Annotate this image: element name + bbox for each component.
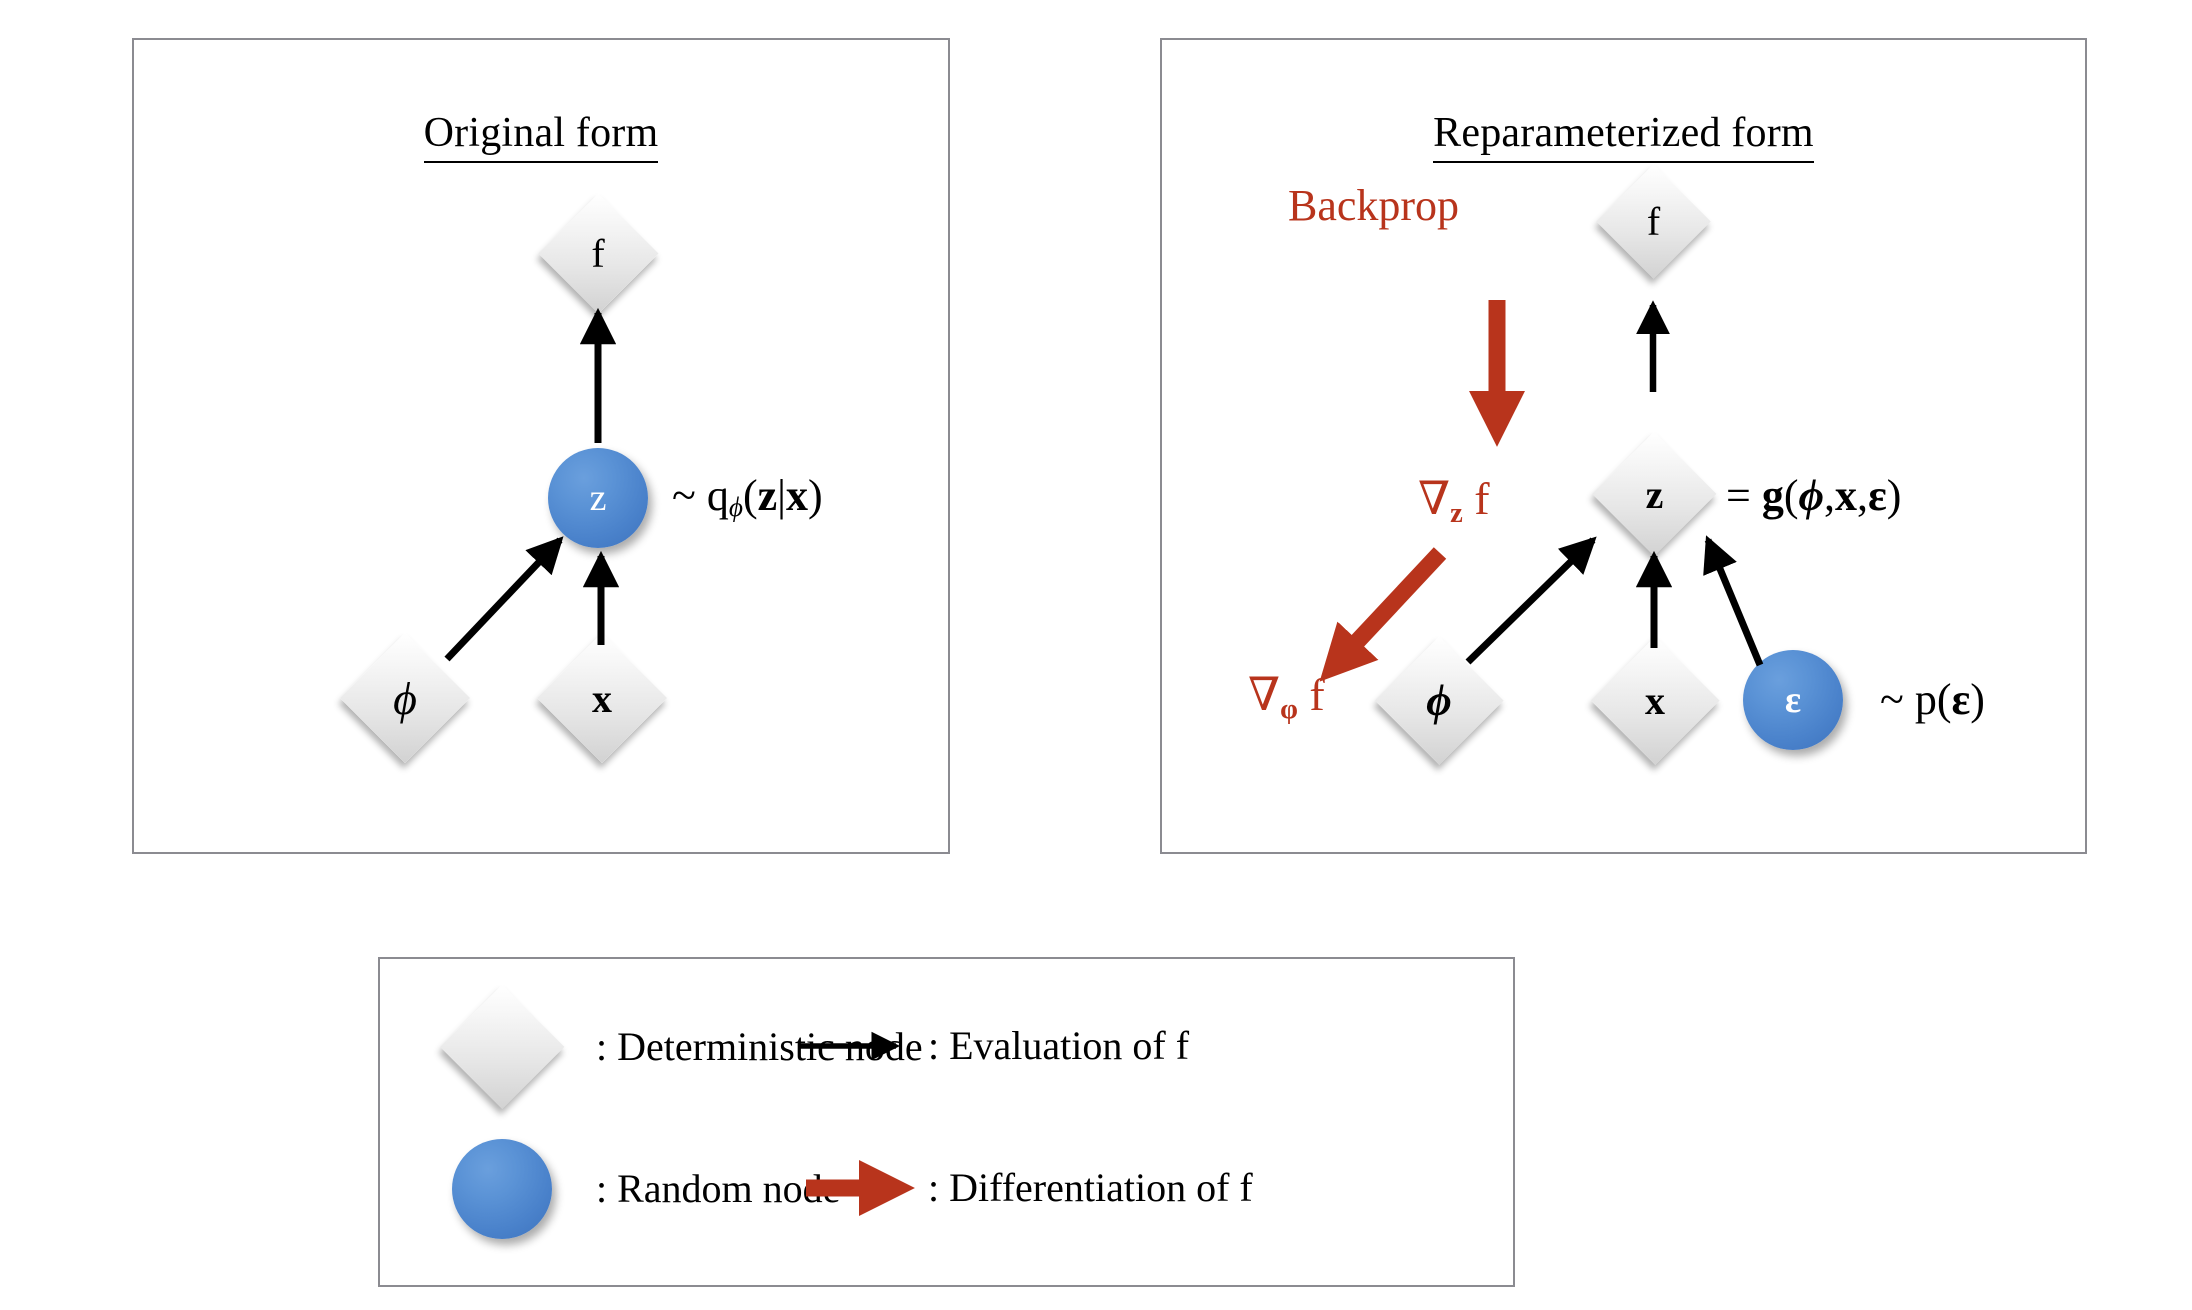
x-glyph: x <box>592 675 612 722</box>
node-x-original-label: x <box>537 633 667 763</box>
z-subscript: z <box>1450 498 1463 529</box>
z-glyph: z <box>1646 471 1664 518</box>
tilde-glyph: ~ <box>1880 675 1904 724</box>
circle-shape <box>452 1139 552 1239</box>
phi-subscript: ϕ <box>729 492 743 522</box>
z-distribution-annotation: ~ qϕ(z|x) <box>672 474 823 521</box>
z-definition-annotation: = g(ϕ,x,ε) <box>1726 474 1901 518</box>
node-z-original-label: z <box>548 448 648 548</box>
diamond-shape <box>440 985 565 1110</box>
node-x-reparam[interactable]: x <box>1591 636 1719 764</box>
phi-glyph: ϕ <box>393 672 417 725</box>
node-z-reparam-label: z <box>1592 432 1717 557</box>
legend-circle-swatch <box>452 1139 552 1239</box>
node-f-original[interactable]: f <box>538 193 658 313</box>
legend-diamond-swatch <box>440 985 565 1110</box>
phi-subscript: φ <box>1280 694 1298 725</box>
gradient-phi-label: ∇φ f <box>1248 672 1325 725</box>
node-f-reparam-label: f <box>1596 164 1711 279</box>
legend-label-evaluation: : Evaluation of f <box>928 1026 1189 1066</box>
phi-glyph: ϕ <box>1798 471 1823 520</box>
node-phi-original-label: ϕ <box>340 633 470 763</box>
node-f-reparam[interactable]: f <box>1596 164 1711 279</box>
node-z-original[interactable]: z <box>548 448 648 548</box>
phi-glyph: ϕ <box>1426 675 1451 726</box>
nabla-icon: ∇ <box>1418 473 1450 524</box>
node-x-reparam-label: x <box>1591 636 1719 764</box>
legend-label-random: : Random node <box>596 1169 840 1209</box>
node-epsilon-reparam[interactable]: ε <box>1743 650 1843 750</box>
node-f-original-label: f <box>538 193 658 313</box>
node-z-reparam[interactable]: z <box>1592 432 1717 557</box>
legend-label-differentiation: : Differentiation of f <box>928 1168 1253 1208</box>
node-phi-original[interactable]: ϕ <box>340 633 470 763</box>
node-phi-reparam[interactable]: ϕ <box>1375 636 1503 764</box>
node-epsilon-reparam-label: ε <box>1743 650 1843 750</box>
panel-reparam-title: Reparameterized form <box>1162 112 2085 154</box>
epsilon-distribution-annotation: ~ p(ε) <box>1880 678 1985 722</box>
x-glyph: x <box>1645 677 1665 724</box>
legend-label-deterministic: : Deterministic node <box>596 1027 923 1067</box>
backprop-label: Backprop <box>1288 184 1459 228</box>
panel-original-title: Original form <box>134 112 948 154</box>
node-x-original[interactable]: x <box>537 633 667 763</box>
nabla-icon: ∇ <box>1248 669 1280 720</box>
gradient-z-label: ∇z f <box>1418 476 1490 529</box>
node-phi-reparam-label: ϕ <box>1375 636 1503 764</box>
tilde-glyph: ~ <box>672 471 696 520</box>
